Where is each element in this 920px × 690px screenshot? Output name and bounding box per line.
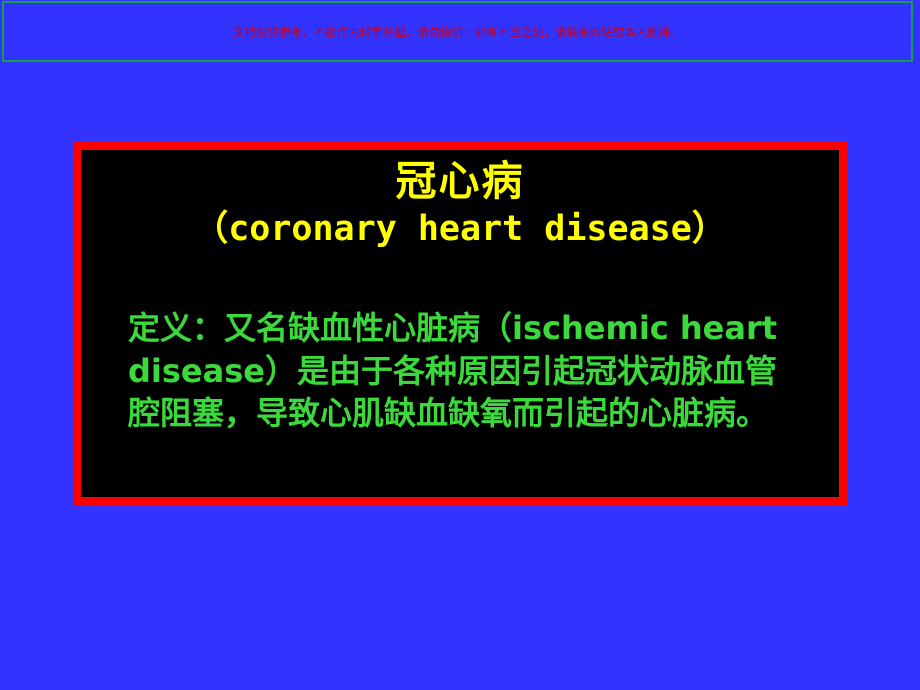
definition-line-3: 腔阻塞，导致心肌缺血缺氧而引起的心脏病。 bbox=[128, 392, 828, 435]
definition-line-1: 定义：又名缺血性心脏病（ischemic heart bbox=[128, 307, 828, 350]
disclaimer-banner: 文档仅供参考，不能作为科学依据，请勿模仿：如有不当之处，请联系网站或本人删除。 bbox=[2, 1, 913, 62]
definition-line-2: disease）是由于各种原因引起冠状动脉血管 bbox=[128, 350, 828, 393]
slide-title-chinese: 冠心病 bbox=[81, 158, 839, 204]
disclaimer-text: 文档仅供参考，不能作为科学依据，请勿模仿：如有不当之处，请联系网站或本人删除。 bbox=[233, 26, 682, 40]
slide-title-english: （coronary heart disease） bbox=[81, 208, 839, 250]
presentation-slide: 文档仅供参考，不能作为科学依据，请勿模仿：如有不当之处，请联系网站或本人删除。 … bbox=[0, 0, 920, 690]
content-box-inner: 冠心病 （coronary heart disease） 定义：又名缺血性心脏病… bbox=[81, 150, 839, 497]
definition-body: 定义：又名缺血性心脏病（ischemic heart disease）是由于各种… bbox=[128, 307, 828, 435]
definition-content-box: 冠心病 （coronary heart disease） 定义：又名缺血性心脏病… bbox=[73, 142, 847, 505]
